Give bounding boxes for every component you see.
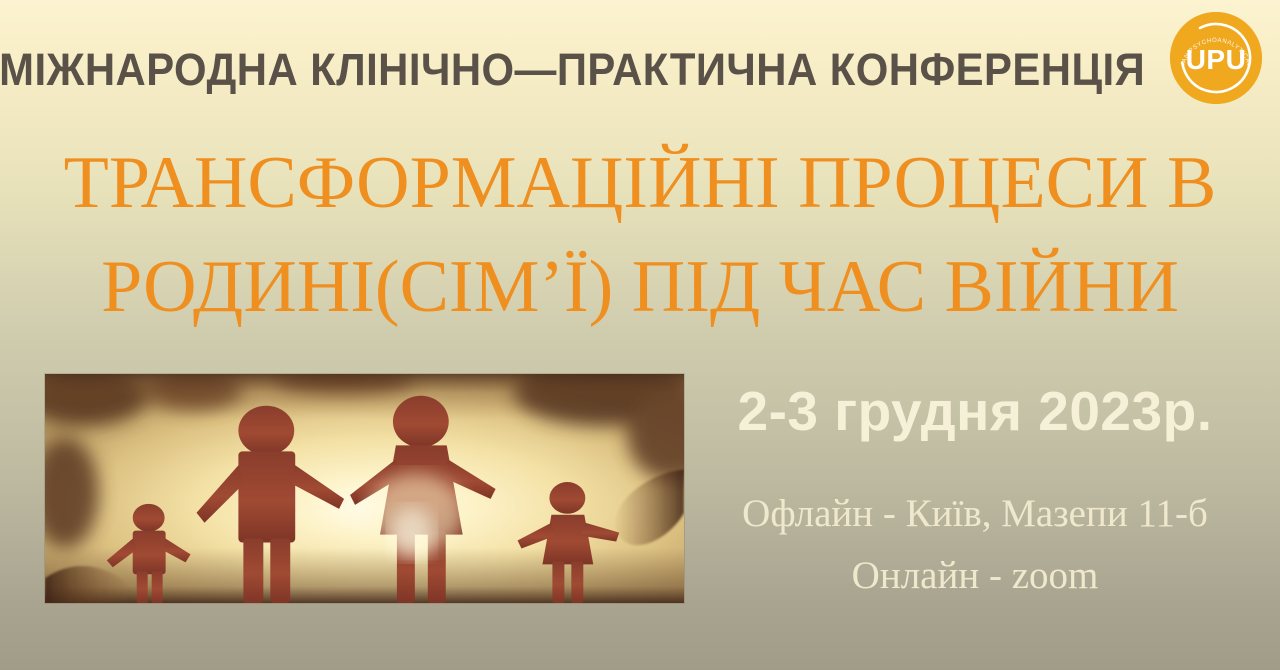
event-details: 2-3 грудня 2023р. Офлайн - Київ, Мазепи … bbox=[690, 375, 1260, 607]
details-spacer bbox=[690, 447, 1260, 483]
event-online-location: Онлайн - zoom bbox=[690, 545, 1260, 607]
poster-header: МІЖНАРОДНА КЛІНІЧНО—ПРАКТИЧНА КОНФЕРЕНЦІ… bbox=[0, 38, 1145, 100]
title-line-2: РОДИНІ(СІМ’Ї) ПІД ЧАС ВІЙНИ bbox=[0, 235, 1280, 339]
conference-kicker-text: МІЖНАРОДНА КЛІНІЧНО—ПРАКТИЧНА КОНФЕРЕНЦІ… bbox=[0, 47, 1146, 92]
upu-logo-graphic: UKRAINIAN PSYCHOANALYTICAL UNION UPU bbox=[1170, 12, 1262, 104]
family-photo-graphic bbox=[45, 374, 684, 603]
event-offline-location: Офлайн - Київ, Мазепи 11-б bbox=[690, 483, 1260, 545]
family-photo bbox=[44, 373, 685, 604]
event-date: 2-3 грудня 2023р. bbox=[690, 375, 1260, 447]
poster-title: ТРАНСФОРМАЦІЙНІ ПРОЦЕСИ В РОДИНІ(СІМ’Ї) … bbox=[0, 131, 1280, 339]
logo-acronym-text: UPU bbox=[1186, 44, 1247, 75]
conference-poster: МІЖНАРОДНА КЛІНІЧНО—ПРАКТИЧНА КОНФЕРЕНЦІ… bbox=[0, 0, 1280, 670]
title-line-1: ТРАНСФОРМАЦІЙНІ ПРОЦЕСИ В bbox=[0, 131, 1280, 235]
upu-logo[interactable]: UKRAINIAN PSYCHOANALYTICAL UNION UPU bbox=[1170, 12, 1262, 104]
